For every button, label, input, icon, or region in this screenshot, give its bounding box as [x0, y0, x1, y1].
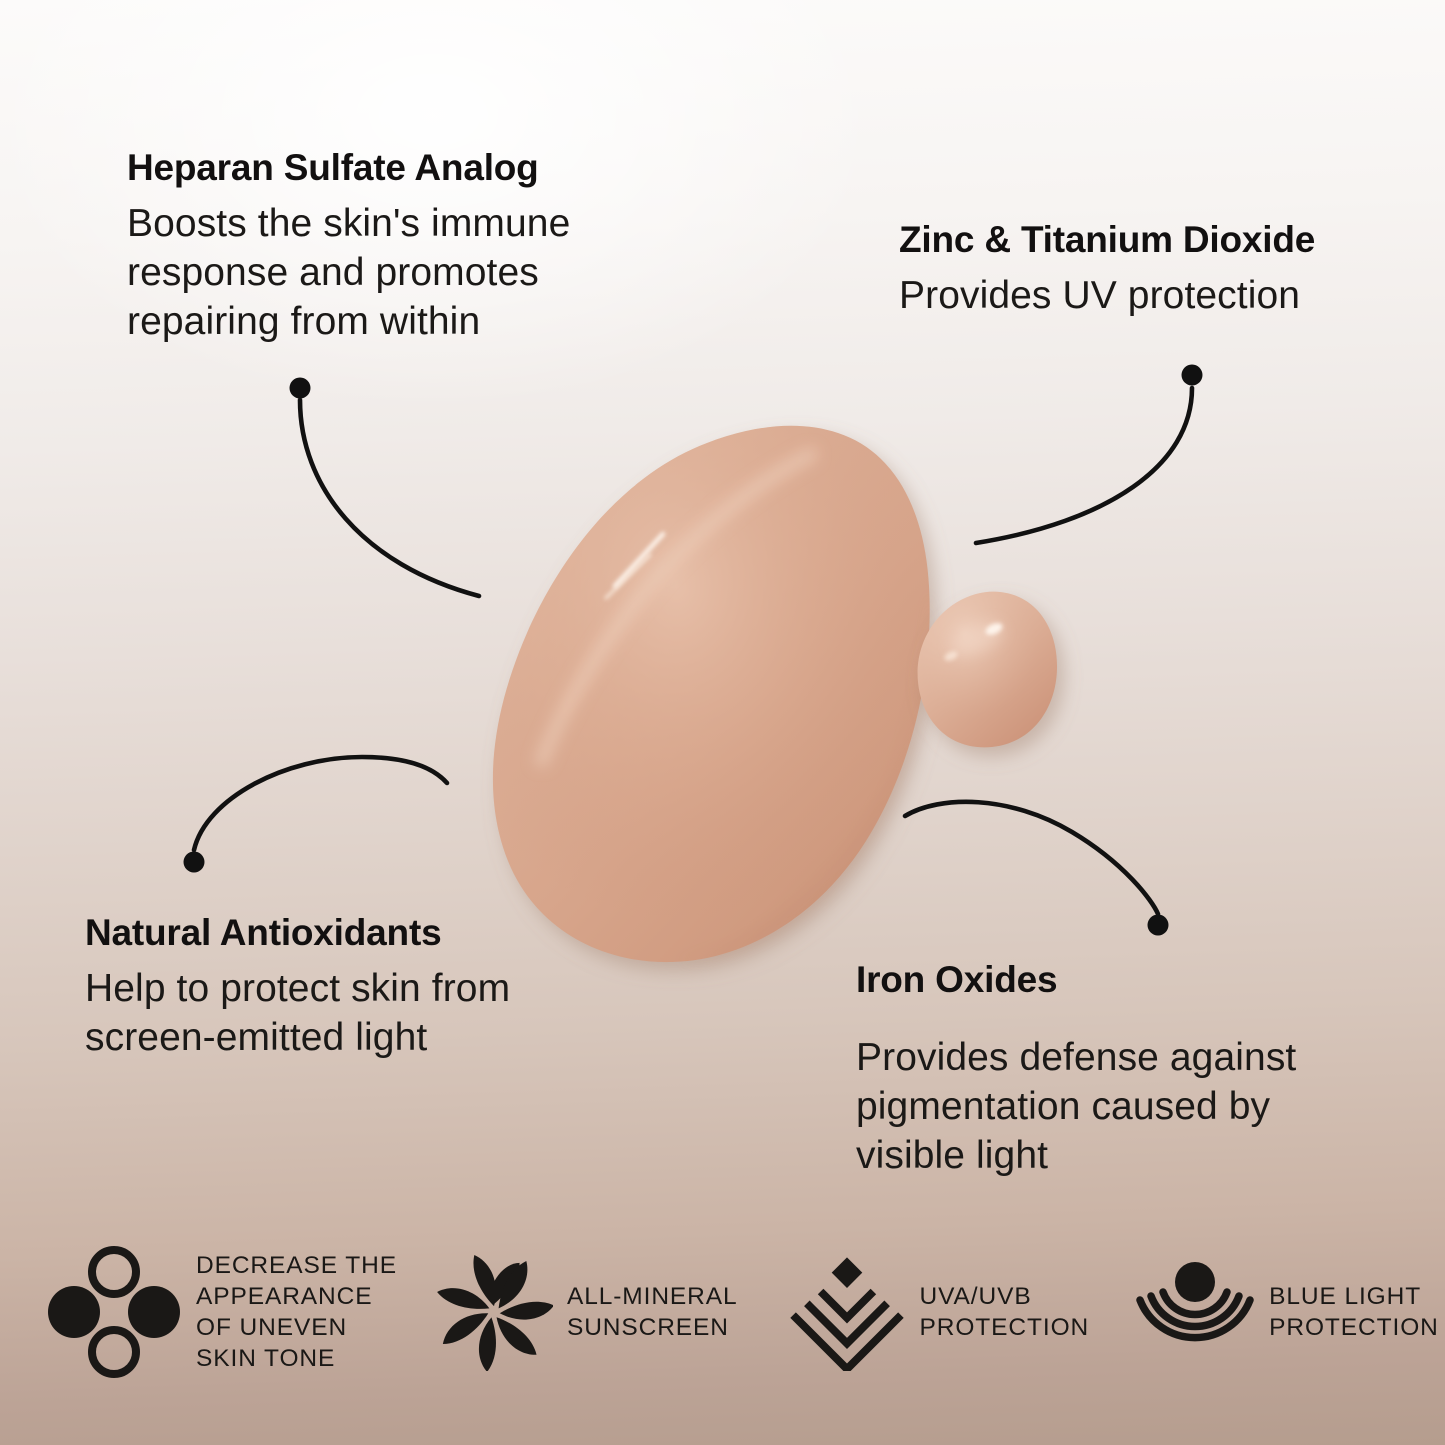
callout-body-line: Help to protect skin from — [85, 964, 510, 1013]
callout-body: Boosts the skin's immune response and pr… — [127, 199, 570, 346]
callout-body-line: screen-emitted light — [85, 1013, 510, 1062]
callout-natural-antioxidants: Natural Antioxidants Help to protect ski… — [85, 911, 510, 1062]
callout-title: Heparan Sulfate Analog — [127, 146, 570, 190]
callout-body-line: repairing from within — [127, 297, 570, 346]
radiating-arcs-icon — [1135, 1252, 1255, 1372]
flower-petals-icon — [435, 1253, 553, 1371]
badge-text-line: SKIN TONE — [196, 1343, 397, 1374]
badge-text-line: UVA/UVB — [920, 1281, 1090, 1312]
badge-text-line: BLUE LIGHT — [1269, 1281, 1439, 1312]
callout-body-line: Provides defense against — [856, 1033, 1296, 1082]
badge-text-line: OF UNEVEN — [196, 1312, 397, 1343]
callout-title: Zinc & Titanium Dioxide — [899, 218, 1315, 262]
callout-body: Provides UV protection — [899, 271, 1315, 320]
callout-iron-oxides: Iron Oxides Provides defense against pig… — [856, 958, 1296, 1180]
infographic-canvas: Heparan Sulfate Analog Boosts the skin's… — [0, 0, 1445, 1445]
badge-blue-light-protection: BLUE LIGHT PROTECTION — [1135, 1252, 1439, 1372]
callout-heparan-sulfate-analog: Heparan Sulfate Analog Boosts the skin's… — [127, 146, 570, 346]
badge-text-line: PROTECTION — [1269, 1312, 1439, 1343]
four-circles-icon — [48, 1246, 180, 1378]
badge-all-mineral-sunscreen: ALL-MINERAL SUNSCREEN — [435, 1253, 738, 1371]
badge-text: ALL-MINERAL SUNSCREEN — [567, 1281, 738, 1343]
callout-zinc-titanium-dioxide: Zinc & Titanium Dioxide Provides UV prot… — [899, 218, 1315, 320]
callout-body: Provides defense against pigmentation ca… — [856, 1033, 1296, 1180]
badge-text-line: APPEARANCE — [196, 1281, 397, 1312]
feature-badge-strip: DECREASE THE APPEARANCE OF UNEVEN SKIN T… — [0, 1222, 1445, 1402]
badge-text: BLUE LIGHT PROTECTION — [1269, 1281, 1439, 1343]
badge-text-line: DECREASE THE — [196, 1250, 397, 1281]
badge-text: UVA/UVB PROTECTION — [920, 1281, 1090, 1343]
callout-title: Natural Antioxidants — [85, 911, 510, 955]
chevrons-diamond-icon — [788, 1253, 906, 1371]
cream-swatch-large — [493, 426, 930, 962]
cream-droplet-small — [918, 592, 1057, 748]
callout-body-line: Provides UV protection — [899, 271, 1315, 320]
callout-body-line: response and promotes — [127, 248, 570, 297]
badge-text-line: PROTECTION — [920, 1312, 1090, 1343]
callout-title: Iron Oxides — [856, 958, 1296, 1002]
badge-uva-uvb-protection: UVA/UVB PROTECTION — [788, 1253, 1090, 1371]
badge-text: DECREASE THE APPEARANCE OF UNEVEN SKIN T… — [196, 1250, 397, 1374]
callout-body-line: pigmentation caused by — [856, 1082, 1296, 1131]
callout-body-line: Boosts the skin's immune — [127, 199, 570, 248]
callout-body-line: visible light — [856, 1131, 1296, 1180]
callout-body: Help to protect skin from screen-emitted… — [85, 964, 510, 1062]
badge-text-line: SUNSCREEN — [567, 1312, 738, 1343]
badge-text-line: ALL-MINERAL — [567, 1281, 738, 1312]
badge-decrease-uneven-skin-tone: DECREASE THE APPEARANCE OF UNEVEN SKIN T… — [48, 1246, 397, 1378]
